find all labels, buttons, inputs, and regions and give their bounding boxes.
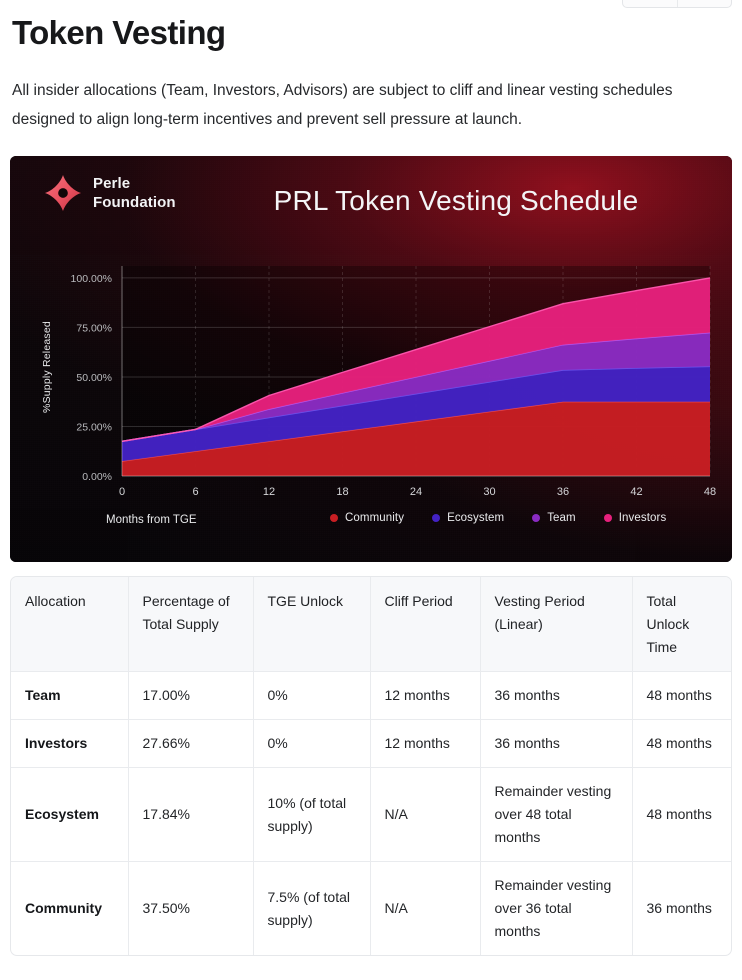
cell-vesting-period: 36 months bbox=[480, 720, 632, 768]
vesting-table: Allocation Percentage of Total Supply TG… bbox=[11, 577, 732, 955]
cell-allocation: Ecosystem bbox=[11, 768, 128, 862]
cell-allocation: Community bbox=[11, 862, 128, 956]
cell-allocation: Investors bbox=[11, 720, 128, 768]
legend-item-community[interactable]: Community bbox=[330, 512, 404, 524]
cell-tge-unlock: 0% bbox=[253, 672, 370, 720]
legend-swatch-icon bbox=[532, 514, 540, 522]
cell-total-unlock: 48 months bbox=[632, 672, 732, 720]
table-header-row: Allocation Percentage of Total Supply TG… bbox=[11, 577, 732, 672]
legend-swatch-icon bbox=[432, 514, 440, 522]
th-allocation: Allocation bbox=[11, 577, 128, 672]
th-vesting-period: Vesting Period (Linear) bbox=[480, 577, 632, 672]
cell-tge-unlock: 10% (of total supply) bbox=[253, 768, 370, 862]
legend-swatch-icon bbox=[604, 514, 612, 522]
svg-text:48: 48 bbox=[704, 486, 716, 498]
toolbar-segment-1[interactable] bbox=[623, 0, 678, 7]
svg-text:6: 6 bbox=[192, 486, 198, 498]
svg-text:100.00%: 100.00% bbox=[71, 273, 112, 285]
legend-label: Community bbox=[345, 512, 404, 524]
cell-tge-unlock: 0% bbox=[253, 720, 370, 768]
legend-label: Ecosystem bbox=[447, 512, 504, 524]
table-body: Team17.00%0%12 months36 months48 monthsI… bbox=[11, 672, 732, 956]
cell-cliff-period: N/A bbox=[370, 862, 480, 956]
table-row: Community37.50%7.5% (of total supply)N/A… bbox=[11, 862, 732, 956]
cell-total-unlock: 48 months bbox=[632, 720, 732, 768]
legend-item-investors[interactable]: Investors bbox=[604, 512, 667, 524]
cell-allocation: Team bbox=[11, 672, 128, 720]
table-row: Investors27.66%0%12 months36 months48 mo… bbox=[11, 720, 732, 768]
table-head: Allocation Percentage of Total Supply TG… bbox=[11, 577, 732, 672]
cell-vesting-period: 36 months bbox=[480, 672, 632, 720]
top-right-toolbar-stub[interactable] bbox=[622, 0, 732, 8]
y-axis-title: %Supply Released bbox=[41, 307, 53, 427]
svg-text:36: 36 bbox=[557, 486, 569, 498]
svg-text:0: 0 bbox=[119, 486, 125, 498]
legend-item-ecosystem[interactable]: Ecosystem bbox=[432, 512, 504, 524]
chart-legend: CommunityEcosystemTeamInvestors bbox=[330, 512, 666, 524]
token-vesting-page: Token Vesting All insider allocations (T… bbox=[0, 0, 742, 980]
th-tge-unlock: TGE Unlock bbox=[253, 577, 370, 672]
legend-swatch-icon bbox=[330, 514, 338, 522]
svg-text:24: 24 bbox=[410, 486, 422, 498]
cell-total-unlock: 48 months bbox=[632, 768, 732, 862]
legend-label: Investors bbox=[619, 512, 667, 524]
intro-paragraph: All insider allocations (Team, Investors… bbox=[0, 54, 712, 134]
cell-tge-unlock: 7.5% (of total supply) bbox=[253, 862, 370, 956]
x-axis-title: Months from TGE bbox=[106, 514, 197, 526]
svg-text:75.00%: 75.00% bbox=[76, 322, 112, 334]
legend-label: Team bbox=[547, 512, 576, 524]
cell-vesting-period: Remainder vesting over 48 total months bbox=[480, 768, 632, 862]
page-title: Token Vesting bbox=[0, 0, 742, 54]
chart-title: PRL Token Vesting Schedule bbox=[10, 183, 732, 219]
cell-percentage: 17.84% bbox=[128, 768, 253, 862]
svg-text:50.00%: 50.00% bbox=[76, 372, 112, 384]
svg-text:12: 12 bbox=[263, 486, 275, 498]
cell-percentage: 17.00% bbox=[128, 672, 253, 720]
table-row: Team17.00%0%12 months36 months48 months bbox=[11, 672, 732, 720]
legend-item-team[interactable]: Team bbox=[532, 512, 576, 524]
vesting-table-container: Allocation Percentage of Total Supply TG… bbox=[10, 576, 732, 956]
cell-cliff-period: 12 months bbox=[370, 720, 480, 768]
svg-text:30: 30 bbox=[483, 486, 495, 498]
th-cliff-period: Cliff Period bbox=[370, 577, 480, 672]
th-percentage: Percentage of Total Supply bbox=[128, 577, 253, 672]
cell-percentage: 37.50% bbox=[128, 862, 253, 956]
vesting-chart-card: Perle Foundation PRL Token Vesting Sched… bbox=[10, 156, 732, 562]
cell-vesting-period: Remainder vesting over 36 total months bbox=[480, 862, 632, 956]
svg-text:18: 18 bbox=[336, 486, 348, 498]
svg-text:0.00%: 0.00% bbox=[82, 471, 112, 483]
th-total-unlock: Total Unlock Time bbox=[632, 577, 732, 672]
cell-cliff-period: N/A bbox=[370, 768, 480, 862]
table-row: Ecosystem17.84%10% (of total supply)N/AR… bbox=[11, 768, 732, 862]
toolbar-segment-2[interactable] bbox=[678, 0, 732, 7]
cell-percentage: 27.66% bbox=[128, 720, 253, 768]
svg-text:42: 42 bbox=[630, 486, 642, 498]
cell-cliff-period: 12 months bbox=[370, 672, 480, 720]
cell-total-unlock: 36 months bbox=[632, 862, 732, 956]
svg-text:25.00%: 25.00% bbox=[76, 421, 112, 433]
